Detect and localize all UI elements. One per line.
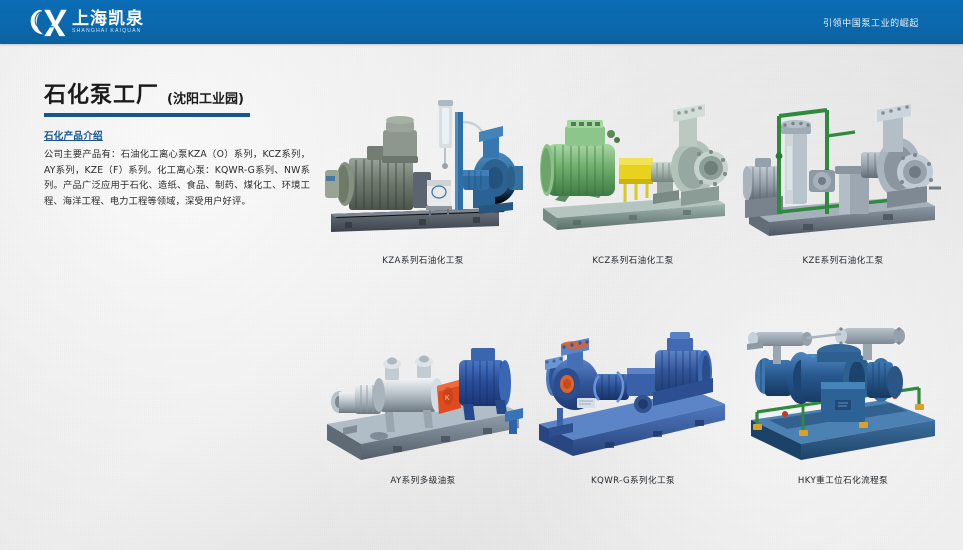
intro-block: 石化产品介绍 公司主要产品有：石油化工离心泵KZA（O）系列，KCZ系列，AY系… bbox=[44, 128, 310, 209]
product-card-ay[interactable]: K bbox=[318, 316, 528, 502]
product-caption: KZA系列石油化工泵 bbox=[382, 254, 464, 266]
logo-text-en: SHANGHAI KAIQUAN bbox=[72, 28, 144, 35]
product-grid: KZA系列石油化工泵 bbox=[318, 96, 948, 502]
intro-body-text: 公司主要产品有：石油化工离心泵KZA（O）系列，KCZ系列，AY系列，KZE（F… bbox=[44, 147, 310, 209]
page-header: 上海凯泉 SHANGHAI KAIQUAN 引领中国泵工业的崛起 bbox=[0, 0, 963, 44]
page-title: 石化泵工厂 bbox=[44, 84, 159, 108]
product-photo-kze bbox=[743, 96, 943, 248]
company-logo[interactable]: 上海凯泉 SHANGHAI KAIQUAN bbox=[26, 6, 144, 38]
product-caption: KCZ系列石油化工泵 bbox=[592, 254, 673, 266]
product-photo-hky bbox=[743, 316, 943, 468]
page-subtitle: (沈阳工业园) bbox=[167, 88, 244, 108]
product-card-kza[interactable]: KZA系列石油化工泵 bbox=[318, 96, 528, 282]
logo-text-cn: 上海凯泉 bbox=[72, 10, 144, 28]
product-caption: HKY重工位石化流程泵 bbox=[798, 474, 888, 486]
slide-root: 上海凯泉 SHANGHAI KAIQUAN 引领中国泵工业的崛起 石化泵工厂 (… bbox=[0, 0, 963, 550]
product-caption: KZE系列石油化工泵 bbox=[802, 254, 883, 266]
product-card-kcz[interactable]: KCZ系列石油化工泵 bbox=[528, 96, 738, 282]
product-photo-kqwr bbox=[533, 316, 733, 468]
product-photo-kza bbox=[323, 96, 523, 248]
product-card-hky[interactable]: HKY重工位石化流程泵 bbox=[738, 316, 948, 502]
product-photo-ay: K bbox=[323, 316, 523, 468]
product-photo-kcz bbox=[533, 96, 733, 248]
kaiquan-logo-icon bbox=[26, 6, 68, 38]
product-card-kqwr[interactable]: KQWR-G系列化工泵 bbox=[528, 316, 738, 502]
intro-heading: 石化产品介绍 bbox=[44, 128, 310, 142]
svg-text:K: K bbox=[445, 395, 450, 402]
product-caption: KQWR-G系列化工泵 bbox=[591, 474, 675, 486]
title-underline-rule bbox=[44, 113, 250, 117]
product-caption: AY系列多级油泵 bbox=[390, 474, 455, 486]
header-slogan: 引领中国泵工业的崛起 bbox=[823, 0, 919, 44]
page-title-block: 石化泵工厂 (沈阳工业园) bbox=[44, 84, 250, 117]
product-card-kze[interactable]: KZE系列石油化工泵 bbox=[738, 96, 948, 282]
